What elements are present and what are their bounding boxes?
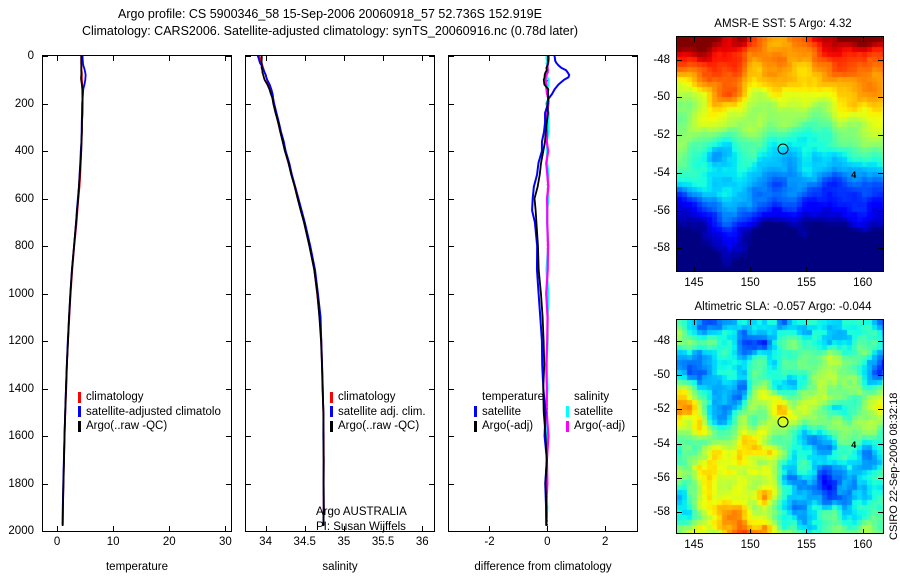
map-x-tick (863, 37, 864, 42)
sst-map-title: AMSR-E SST: 5 Argo: 4.32 (668, 18, 898, 30)
x-tick (605, 526, 606, 531)
legend-item: Argo(-adj) (474, 419, 544, 434)
y-tick (429, 389, 434, 390)
y-tick (226, 484, 231, 485)
map-y-tick (677, 478, 682, 479)
y-tick (632, 246, 637, 247)
temperature-profile-panel (42, 55, 232, 532)
y-tick (449, 341, 454, 342)
x-tick (57, 56, 58, 61)
y-tick (429, 341, 434, 342)
y-tick (632, 436, 637, 437)
legend-item-label: climatology (338, 390, 396, 405)
map-y-tick (878, 375, 883, 376)
argo-credit: Argo AUSTRALIA PI: Susan Wijffels (316, 505, 407, 534)
float-number-label: 4 (851, 170, 856, 180)
y-tick (246, 151, 251, 152)
y-tick (246, 531, 251, 532)
map-x-tick-label: 150 (741, 277, 760, 289)
x-tick (422, 56, 423, 61)
y-tick (43, 531, 48, 532)
legend-item-label: climatology (86, 390, 144, 405)
map-x-tick (694, 529, 695, 534)
map-y-tick-label: -48 (642, 54, 670, 66)
y-tick (429, 151, 434, 152)
y-tick (43, 56, 48, 57)
y-tick (43, 104, 48, 105)
legend-item: Argo(..raw -QC) (330, 419, 426, 434)
y-tick (449, 389, 454, 390)
legend-color-swatch (78, 406, 81, 417)
sla-map: 4 (676, 319, 884, 534)
x-tick-label: 34.5 (294, 536, 316, 548)
legend-item-label: satellite (574, 405, 613, 420)
y-tick-label: 600 (0, 193, 34, 205)
y-tick-label: 800 (0, 240, 34, 252)
legend-item: climatology (330, 390, 426, 405)
y-tick-label: 1400 (0, 383, 34, 395)
map-x-tick (750, 529, 751, 534)
x-tick (422, 526, 423, 531)
legend-color-swatch (330, 392, 333, 403)
difference-legend-temperature-column: temperature satelliteArgo(-adj) (474, 390, 544, 434)
y-tick-label: 200 (0, 98, 34, 110)
map-y-tick (878, 211, 883, 212)
map-y-tick (677, 375, 682, 376)
legend-header-label: salinity (574, 390, 609, 405)
y-tick (43, 484, 48, 485)
map-x-tick-label: 145 (684, 539, 703, 551)
legend-item-label: satellite adj. clim. (338, 405, 426, 420)
y-tick-label: 400 (0, 145, 34, 157)
float-number-label: 4 (851, 440, 856, 450)
map-y-tick (878, 173, 883, 174)
y-tick (449, 436, 454, 437)
legend-color-swatch (474, 421, 477, 432)
y-tick (226, 56, 231, 57)
y-tick (449, 151, 454, 152)
y-tick (449, 484, 454, 485)
map-y-tick (878, 135, 883, 136)
y-tick (43, 294, 48, 295)
figure-title: Argo profile: CS 5900346_58 15-Sep-2006 … (0, 6, 660, 40)
salinity-xaxis-label: salinity (245, 561, 435, 573)
y-tick (632, 341, 637, 342)
map-y-tick (878, 97, 883, 98)
map-y-tick-label: -58 (642, 506, 670, 518)
x-tick-label: 20 (163, 536, 176, 548)
map-y-tick-label: -54 (642, 167, 670, 179)
legend-item-label: Argo(..raw -QC) (86, 419, 167, 434)
y-tick (246, 341, 251, 342)
y-tick (429, 199, 434, 200)
map-y-tick (677, 341, 682, 342)
map-x-tick (863, 320, 864, 325)
legend-item-label: Argo(-adj) (574, 419, 625, 434)
map-y-tick (878, 444, 883, 445)
csiro-timestamp: CSIRO 22-Sep-2006 08:32:18 (888, 393, 900, 540)
temperature-xaxis-label: temperature (42, 561, 232, 573)
x-tick (305, 56, 306, 61)
map-y-tick-label: -52 (642, 129, 670, 141)
y-tick-label: 1000 (0, 288, 34, 300)
y-tick (449, 531, 454, 532)
y-tick (43, 246, 48, 247)
y-tick (43, 151, 48, 152)
map-x-tick-label: 145 (684, 277, 703, 289)
y-tick (246, 56, 251, 57)
y-tick (246, 199, 251, 200)
map-x-tick (694, 37, 695, 42)
y-tick (43, 341, 48, 342)
x-tick (266, 526, 267, 531)
argo-position-marker (778, 144, 789, 155)
x-tick (305, 526, 306, 531)
map-x-tick-label: 155 (797, 539, 816, 551)
temperature-legend: climatologysatellite-adjusted climatoloA… (78, 390, 221, 434)
map-y-tick-label: -52 (642, 403, 670, 415)
x-tick-label: 36 (416, 536, 429, 548)
legend-color-swatch (474, 406, 477, 417)
map-x-tick (750, 320, 751, 325)
y-tick-label: 0 (0, 50, 34, 62)
legend-header: temperature (474, 390, 544, 405)
y-tick (429, 484, 434, 485)
legend-spacer (566, 392, 569, 403)
map-x-tick-label: 160 (853, 277, 872, 289)
legend-item: climatology (78, 390, 221, 405)
y-tick (226, 246, 231, 247)
map-y-tick-label: -56 (642, 472, 670, 484)
x-tick (489, 56, 490, 61)
map-y-tick (878, 512, 883, 513)
y-tick (429, 56, 434, 57)
legend-color-swatch (78, 392, 81, 403)
y-tick (246, 246, 251, 247)
figure-title-line1: Argo profile: CS 5900346_58 15-Sep-2006 … (0, 6, 660, 23)
map-x-tick (863, 267, 864, 272)
legend-spacer (474, 392, 477, 403)
y-tick (429, 104, 434, 105)
x-tick (57, 526, 58, 531)
legend-color-swatch (78, 421, 81, 432)
x-tick-label: 34 (259, 536, 272, 548)
sla-map-title: Altimetric SLA: -0.057 Argo: -0.044 (668, 301, 898, 313)
argo-credit-line2: PI: Susan Wijffels (316, 520, 407, 535)
difference-legend: temperature satelliteArgo(-adj) salinity… (474, 390, 625, 434)
legend-header: salinity (566, 390, 625, 405)
map-y-tick (677, 211, 682, 212)
x-tick (113, 526, 114, 531)
legend-item: satellite (474, 405, 544, 420)
x-tick (344, 56, 345, 61)
x-tick (169, 56, 170, 61)
map-y-tick (677, 135, 682, 136)
map-x-tick (806, 320, 807, 325)
map-x-tick-label: 155 (797, 277, 816, 289)
y-tick (246, 104, 251, 105)
y-tick (632, 531, 637, 532)
y-tick (246, 436, 251, 437)
y-tick (43, 389, 48, 390)
difference-plot-area (449, 56, 637, 531)
map-x-tick-label: 150 (741, 539, 760, 551)
x-tick-label: 35.5 (372, 536, 394, 548)
map-y-tick (677, 248, 682, 249)
x-tick (547, 526, 548, 531)
y-tick (632, 389, 637, 390)
y-tick-label: 2000 (0, 525, 34, 537)
figure-title-line2: Climatology: CARS2006. Satellite-adjuste… (0, 23, 660, 40)
x-tick (383, 56, 384, 61)
y-tick (429, 246, 434, 247)
salinity-profile-panel (245, 55, 435, 532)
y-tick-label: 1800 (0, 478, 34, 490)
map-y-tick-label: -48 (642, 335, 670, 347)
map-y-tick (677, 409, 682, 410)
y-tick (632, 484, 637, 485)
map-y-tick (677, 97, 682, 98)
legend-header-label: temperature (482, 390, 544, 405)
x-tick-label: 35 (338, 536, 351, 548)
map-x-tick (863, 529, 864, 534)
legend-item: Argo(-adj) (566, 419, 625, 434)
temperature-plot-area (43, 56, 231, 531)
x-tick-label: 0 (544, 536, 550, 548)
map-y-tick (878, 478, 883, 479)
map-x-tick (694, 267, 695, 272)
x-tick-label: 0 (54, 536, 60, 548)
map-y-tick (878, 60, 883, 61)
legend-item: satellite-adjusted climatolo (78, 405, 221, 420)
y-tick (226, 151, 231, 152)
x-tick-label: 30 (219, 536, 232, 548)
legend-item: Argo(..raw -QC) (78, 419, 221, 434)
map-y-tick-label: -56 (642, 205, 670, 217)
map-y-tick (878, 409, 883, 410)
legend-color-swatch (566, 406, 569, 417)
x-tick (547, 56, 548, 61)
difference-profile-panel (448, 55, 638, 532)
x-tick (113, 56, 114, 61)
y-tick-label: 1200 (0, 335, 34, 347)
map-y-tick (677, 60, 682, 61)
legend-item-label: Argo(..raw -QC) (338, 419, 419, 434)
y-tick (429, 531, 434, 532)
y-tick (246, 294, 251, 295)
y-tick-label: 1600 (0, 430, 34, 442)
y-tick (449, 56, 454, 57)
y-tick (632, 294, 637, 295)
y-tick (632, 151, 637, 152)
salinity-legend: climatologysatellite adj. clim.Argo(..ra… (330, 390, 426, 434)
legend-color-swatch (566, 421, 569, 432)
map-x-tick (806, 37, 807, 42)
y-tick (449, 199, 454, 200)
y-tick (226, 436, 231, 437)
legend-color-swatch (330, 421, 333, 432)
map-y-tick-label: -50 (642, 91, 670, 103)
y-tick (226, 104, 231, 105)
map-y-tick (878, 341, 883, 342)
y-tick (632, 104, 637, 105)
map-y-tick (878, 248, 883, 249)
y-tick (226, 531, 231, 532)
map-y-tick (677, 444, 682, 445)
x-tick (489, 526, 490, 531)
x-tick-label: 2 (602, 536, 608, 548)
y-tick (449, 294, 454, 295)
map-x-tick (750, 267, 751, 272)
y-tick (429, 436, 434, 437)
x-tick-label: -2 (484, 536, 494, 548)
sst-map: 4 (676, 36, 884, 272)
map-y-tick-label: -58 (642, 242, 670, 254)
y-tick (226, 199, 231, 200)
x-tick (605, 56, 606, 61)
argo-credit-line1: Argo AUSTRALIA (316, 505, 407, 520)
difference-legend-salinity-column: salinity satelliteArgo(-adj) (566, 390, 625, 434)
y-tick (449, 104, 454, 105)
y-tick (632, 56, 637, 57)
legend-item-label: satellite-adjusted climatolo (86, 405, 221, 420)
map-x-tick (750, 37, 751, 42)
map-x-tick (806, 529, 807, 534)
legend-item-label: Argo(-adj) (482, 419, 533, 434)
sst-map-field (677, 37, 884, 272)
legend-item: satellite adj. clim. (330, 405, 426, 420)
y-tick (246, 389, 251, 390)
x-tick (169, 526, 170, 531)
y-tick (226, 389, 231, 390)
difference-xaxis-label: difference from climatology (448, 561, 638, 573)
y-tick (226, 294, 231, 295)
y-tick (449, 246, 454, 247)
map-x-tick (806, 267, 807, 272)
y-tick (246, 484, 251, 485)
map-x-tick-label: 160 (853, 539, 872, 551)
legend-item: satellite (566, 405, 625, 420)
y-tick (429, 294, 434, 295)
y-tick (226, 341, 231, 342)
y-tick (43, 199, 48, 200)
y-tick (632, 199, 637, 200)
legend-item-label: satellite (482, 405, 521, 420)
y-tick (43, 436, 48, 437)
map-y-tick-label: -50 (642, 369, 670, 381)
legend-color-swatch (330, 406, 333, 417)
argo-position-marker (778, 416, 789, 427)
salinity-plot-area (246, 56, 434, 531)
x-tick-label: 10 (107, 536, 120, 548)
map-x-tick (694, 320, 695, 325)
map-y-tick (677, 512, 682, 513)
x-tick (266, 56, 267, 61)
map-y-tick-label: -54 (642, 438, 670, 450)
map-y-tick (677, 173, 682, 174)
